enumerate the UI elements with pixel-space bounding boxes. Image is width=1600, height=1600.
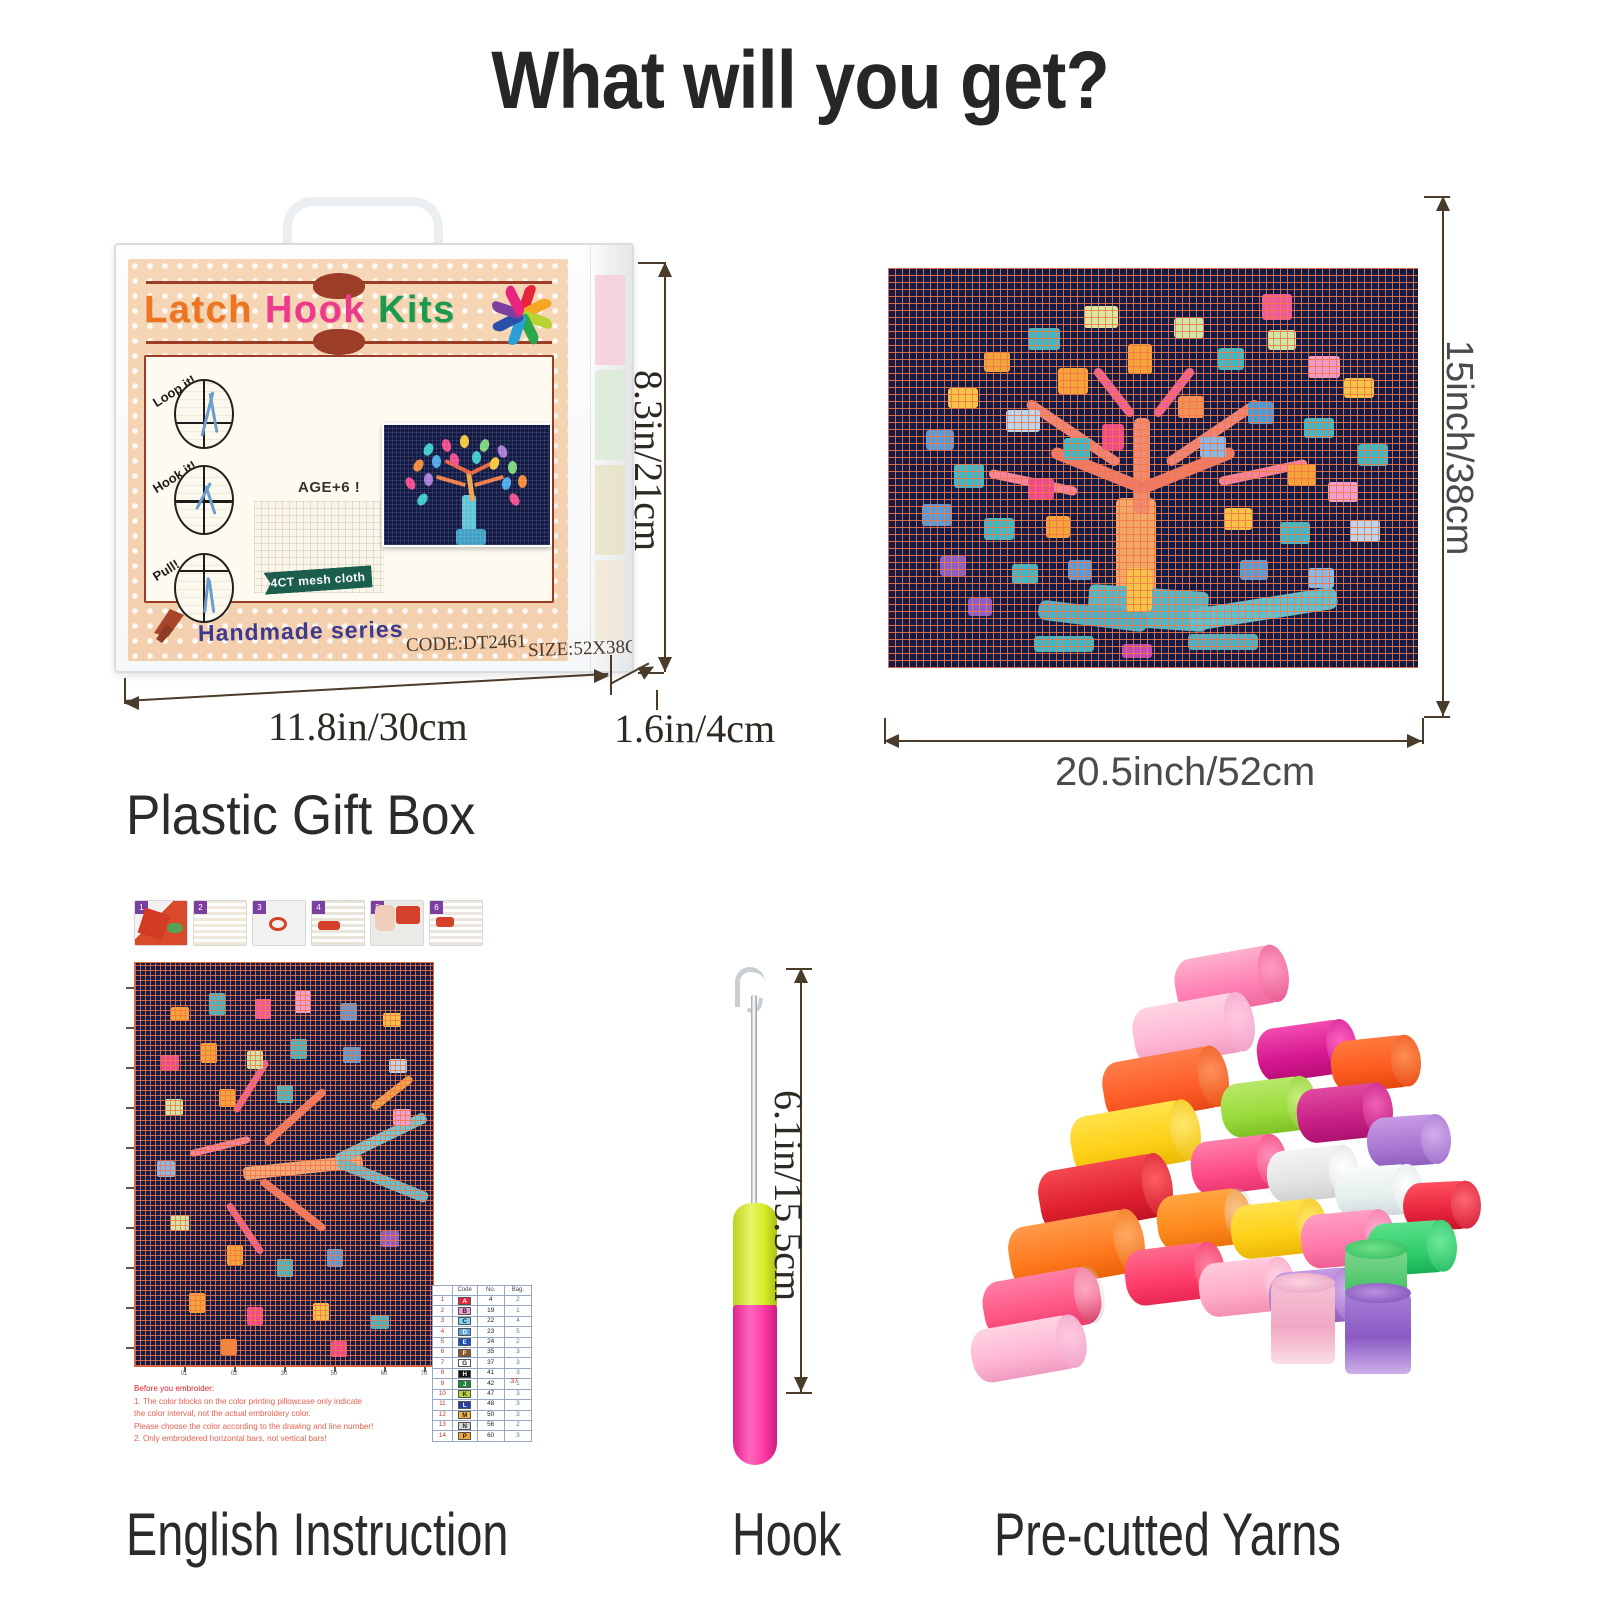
legend-row: 7G373 (433, 1358, 532, 1368)
box-width-arrow-left (124, 696, 139, 710)
legend-index: 5 (433, 1337, 453, 1347)
box-preview-artwork (382, 423, 552, 547)
canvas-width-arrow-right (1407, 734, 1422, 748)
box-kit-title: Latch Hook Kits (144, 289, 474, 332)
yarn-bundle (1365, 1113, 1448, 1168)
legend-bag: 3 (504, 1410, 531, 1420)
box-height-label: 8.3in/21cm (625, 370, 672, 551)
kit-title-word-kits: Kits (378, 289, 456, 331)
sheet-pattern-chart (134, 962, 434, 1367)
legend-no: 35 (477, 1347, 504, 1357)
step-circle-loop (174, 379, 234, 449)
canvas-height-tick-bottom (1424, 716, 1450, 718)
ribbon-mark-icon (150, 603, 194, 647)
sheet-horizontal-ruler: 01 02 30 50 60 70 (134, 1367, 434, 1377)
canvas-height-arrow-up (1436, 196, 1450, 211)
legend-no: 50 (477, 1410, 504, 1420)
plastic-gift-box-illustration: Latch Hook Kits Loop it! (108, 195, 648, 695)
legend-header-index (433, 1286, 453, 1296)
step-circle-hook (174, 465, 234, 535)
instruction-thumb: 4 (311, 900, 365, 946)
legend-code-swatch: D (452, 1327, 477, 1337)
age-label: AGE+6 ! (298, 479, 360, 496)
hook-dim-tick-bottom (786, 1392, 812, 1394)
instruction-thumb: 6 (429, 900, 483, 946)
legend-bag: 4 (504, 1316, 531, 1326)
yarn-bundle (967, 1313, 1087, 1386)
legend-header-row: Code No. Bag. (433, 1286, 532, 1296)
box-brand-label: Handmade series (198, 616, 404, 647)
notes-line: 2. Only embroidered horizontal bars, not… (134, 1433, 454, 1446)
hook-shaft (751, 995, 757, 1210)
legend-bag: 3 (504, 1347, 531, 1357)
hook-dim-arrow-up (794, 968, 808, 983)
legend-code-swatch: E (452, 1337, 477, 1347)
legend-code-swatch: M (452, 1410, 477, 1420)
legend-no: 60 (477, 1431, 504, 1441)
pinwheel-logo-icon (484, 277, 560, 353)
legend-row: 5E242 (433, 1337, 532, 1347)
yarn-bundle-standing (1271, 1282, 1335, 1364)
legend-code-swatch: N (452, 1420, 477, 1430)
legend-no: 37 (477, 1358, 504, 1368)
legend-bag: 3 (504, 1431, 531, 1441)
legend-bag: 2 (504, 1420, 531, 1430)
yarn-bundle-standing (1345, 1292, 1411, 1374)
caption-pre-cutted-yarns: Pre-cutted Yarns (994, 1500, 1341, 1569)
legend-code-swatch: F (452, 1347, 477, 1357)
legend-bag: 2 (504, 1337, 531, 1347)
box-front-face: Latch Hook Kits Loop it! (128, 259, 568, 661)
instruction-thumb: 2 (193, 900, 247, 946)
legend-bag: 5 (504, 1327, 531, 1337)
canvas-width-dimline (884, 740, 1422, 742)
box-width-arrow-right (594, 669, 609, 683)
legend-index: 7 (433, 1358, 453, 1368)
legend-index: 4 (433, 1327, 453, 1337)
legend-header-bag: Bag. (504, 1286, 531, 1296)
canvas-height-arrow-down (1436, 701, 1450, 716)
preview-mesh (384, 425, 550, 545)
thumb-badge: 6 (430, 901, 443, 914)
legend-no: 19 (477, 1306, 504, 1316)
box-code-label: CODE:DT2461 (406, 631, 527, 657)
legend-bag: 1 (504, 1306, 531, 1316)
box-height-arrow-up (658, 262, 672, 277)
legend-no: 24 (477, 1337, 504, 1347)
hook-dimension-label: 6.1in/15.5cm (765, 1090, 812, 1301)
box-height-arrow-down (658, 657, 672, 672)
legend-index: 3 (433, 1316, 453, 1326)
hook-handle-lower (733, 1305, 777, 1465)
legend-index: 1 (433, 1295, 453, 1305)
legend-code-swatch: B (452, 1306, 477, 1316)
thumb-badge: 2 (194, 901, 207, 914)
sheet-vertical-ruler (126, 962, 134, 1367)
legend-bag: 3 (504, 1358, 531, 1368)
box-title-scallop-bottom (313, 329, 365, 355)
legend-no: 47 (477, 1389, 504, 1399)
box-size-label: SIZE:52X38CM (528, 636, 634, 662)
latch-hook-canvas (888, 268, 1418, 668)
notes-line: the color interval, not the actual embro… (134, 1408, 454, 1421)
legend-index: 2 (433, 1306, 453, 1316)
caption-hook: Hook (732, 1500, 841, 1569)
box-body: Latch Hook Kits Loop it! (114, 243, 634, 673)
thumb-badge: 3 (253, 901, 266, 914)
caption-english-instruction: English Instruction (126, 1500, 508, 1569)
legend-bag: 3 (504, 1400, 531, 1410)
box-inner-panel: Loop it! Hook it! Pull! (144, 355, 554, 603)
legend-code-swatch: G (452, 1358, 477, 1368)
legend-code-swatch: K (452, 1389, 477, 1399)
legend-no: 23 (477, 1327, 504, 1337)
legend-header-code: Code (452, 1286, 477, 1296)
legend-no: 56 (477, 1420, 504, 1430)
kit-title-word-hook: Hook (265, 289, 366, 331)
pre-cutted-yarns-illustration (975, 930, 1475, 1430)
legend-row: 3C224 (433, 1316, 532, 1326)
legend-no: 22 (477, 1316, 504, 1326)
instruction-thumb: 1 (134, 900, 188, 946)
legend-row: 4D235 (433, 1327, 532, 1337)
legend-row: 2B191 (433, 1306, 532, 1316)
legend-header-no: No. (477, 1286, 504, 1296)
legend-no: 4 (477, 1295, 504, 1305)
caption-plastic-gift-box: Plastic Gift Box (126, 782, 475, 847)
instruction-thumb: 5 (370, 900, 424, 946)
canvas-height-label: 15inch/38cm (1437, 340, 1480, 555)
box-depth-tick-a (610, 655, 612, 695)
box-handle (283, 197, 443, 249)
legend-row: 6F353 (433, 1347, 532, 1357)
legend-no: 48 (477, 1400, 504, 1410)
hook-dim-arrow-down (794, 1377, 808, 1392)
thumb-badge: 4 (312, 901, 325, 914)
legend-code-swatch: C (452, 1316, 477, 1326)
instruction-thumbnail-strip: 1 2 3 4 5 6 (134, 900, 484, 954)
notes-line: Please choose the color according to the… (134, 1421, 454, 1434)
legend-code-swatch: P (452, 1431, 477, 1441)
legend-code-swatch: A (452, 1295, 477, 1305)
canvas-width-tick-right (1422, 718, 1424, 744)
notes-line: 1. The color blocks on the color printin… (134, 1396, 454, 1409)
legend-code-swatch: L (452, 1400, 477, 1410)
instruction-notes: Before you embroider: 1. The color block… (134, 1383, 454, 1446)
legend-bag: 3 (504, 1389, 531, 1399)
box-depth-label: 1.6in/4cm (614, 705, 775, 752)
legend-index: 6 (433, 1347, 453, 1357)
box-width-label: 11.8in/30cm (268, 703, 468, 750)
canvas-width-label: 20.5inch/52cm (1055, 750, 1315, 795)
infographic-page: What will you get? Latch Hook Kits (0, 0, 1600, 1600)
legend-row: 1A42 (433, 1295, 532, 1305)
notes-heading: Before you embroider: (134, 1383, 454, 1396)
canvas-width-arrow-left (884, 734, 899, 748)
instruction-thumb: 3 (252, 900, 306, 946)
kit-title-word-latch: Latch (144, 289, 253, 331)
legend-bag: 2 (504, 1295, 531, 1305)
page-title: What will you get? (96, 34, 1504, 128)
english-instruction-sheet: 1 2 3 4 5 6 (126, 900, 526, 1470)
